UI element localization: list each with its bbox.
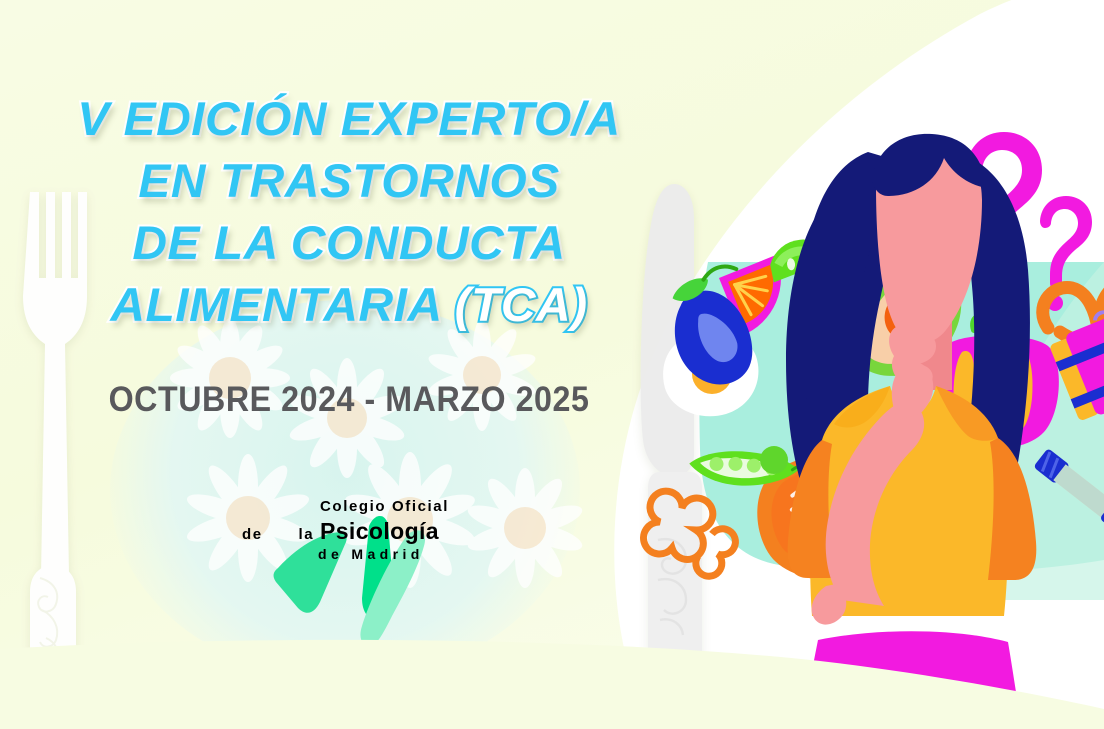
logo-psicologia: Psicología bbox=[320, 518, 439, 544]
lime bbox=[760, 446, 788, 474]
logo-line-1: Colegio Oficial bbox=[320, 498, 449, 515]
title-line-4: ALIMENTARIA (TCA) bbox=[28, 274, 671, 336]
date-range: OCTUBRE 2024 - MARZO 2025 bbox=[59, 380, 639, 420]
title-line-1: V EDICIÓN EXPERTO/A bbox=[28, 88, 671, 150]
logo-line-2: de la Psicología bbox=[242, 518, 439, 545]
logo-line-3: de Madrid bbox=[318, 546, 424, 562]
bottom-background-strip bbox=[0, 609, 1104, 729]
title-line-2: EN TRASTORNOS bbox=[28, 150, 671, 212]
logo-la: la bbox=[298, 526, 319, 543]
title-line-4-text: ALIMENTARIA bbox=[110, 278, 454, 331]
page-title: V EDICIÓN EXPERTO/A EN TRASTORNOS DE LA … bbox=[34, 88, 664, 336]
promo-banner: V EDICIÓN EXPERTO/A EN TRASTORNOS DE LA … bbox=[0, 0, 1104, 729]
title-line-3: DE LA CONDUCTA bbox=[28, 212, 671, 274]
title-acronym-tca: (TCA) bbox=[455, 278, 588, 331]
logo-de: de bbox=[242, 526, 268, 543]
